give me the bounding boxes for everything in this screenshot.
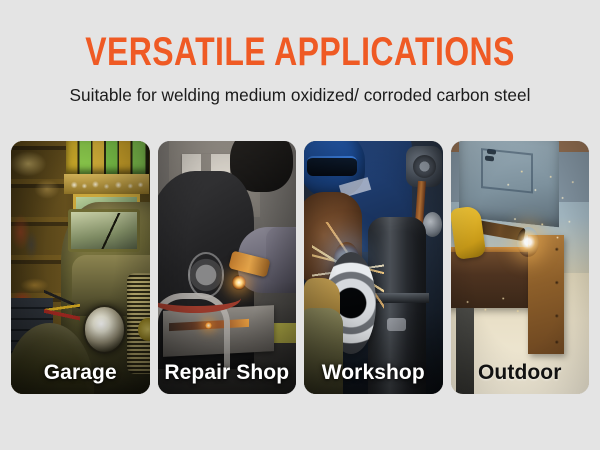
workshop-image <box>304 141 443 394</box>
application-panels: Garage Repa <box>11 141 589 394</box>
panel-label-repair-shop: Repair Shop <box>158 361 297 385</box>
panel-garage[interactable]: Garage <box>11 141 150 394</box>
panel-workshop[interactable]: Workshop <box>304 141 443 394</box>
versatile-applications-banner: VERSATILE APPLICATIONS Suitable for weld… <box>0 0 600 450</box>
page-subtitle: Suitable for welding medium oxidized/ co… <box>5 84 596 106</box>
panel-label-garage: Garage <box>11 361 150 385</box>
garage-image <box>11 141 150 394</box>
panel-repair-shop[interactable]: Repair Shop <box>158 141 297 394</box>
page-title: VERSATILE APPLICATIONS <box>60 30 540 74</box>
panel-outdoor[interactable]: Outdoor <box>451 141 590 394</box>
outdoor-image <box>451 141 590 394</box>
panel-label-outdoor: Outdoor <box>451 361 590 385</box>
repair-shop-image <box>158 141 297 394</box>
panel-label-workshop: Workshop <box>304 361 443 385</box>
